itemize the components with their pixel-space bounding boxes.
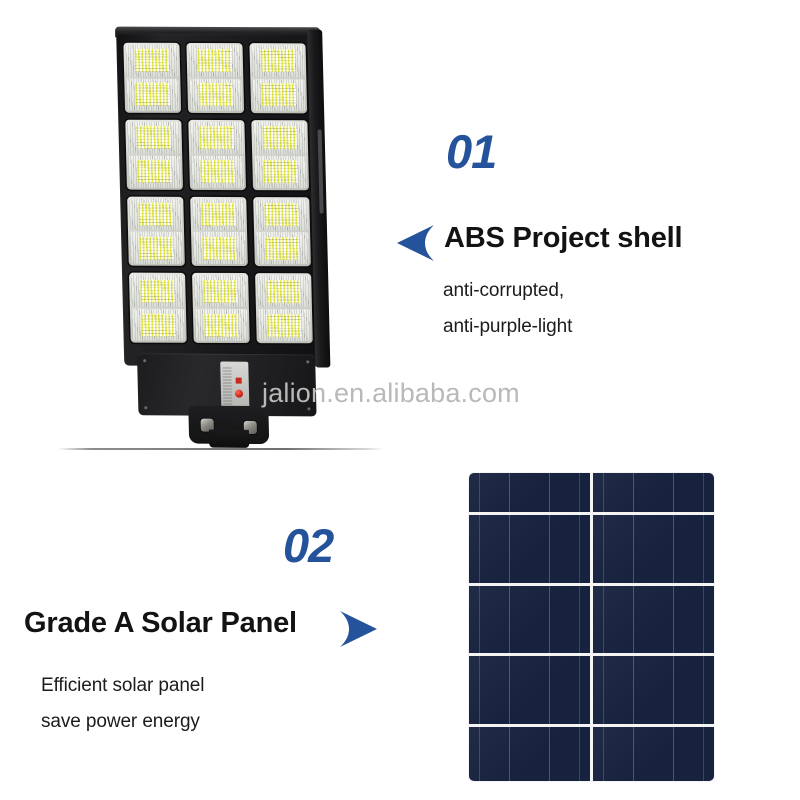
- screw-icon: [143, 359, 146, 362]
- watermark-text: jalion.en.alibaba.com: [262, 378, 520, 409]
- feature-number-02: 02: [283, 522, 333, 569]
- led-array: [253, 122, 306, 154]
- screw-icon: [306, 360, 309, 363]
- led-module: [127, 196, 185, 266]
- led-array: [189, 79, 242, 111]
- solar-cell: [593, 586, 714, 653]
- solar-cell: [469, 515, 590, 582]
- led-module: [188, 120, 246, 190]
- led-array: [131, 275, 184, 307]
- solar-cell: [593, 727, 714, 781]
- led-array: [127, 121, 180, 153]
- led-module: [123, 43, 181, 113]
- triangle-left-icon: [396, 222, 436, 264]
- led-array: [258, 309, 311, 341]
- led-array: [255, 199, 308, 231]
- led-module: [251, 120, 309, 190]
- led-array: [132, 309, 185, 341]
- led-array: [126, 79, 179, 111]
- feature-title-02: Grade A Solar Panel: [24, 607, 297, 640]
- led-module: [186, 43, 244, 113]
- led-array: [191, 156, 244, 188]
- led-array: [192, 198, 245, 230]
- led-module-grid: [123, 43, 312, 344]
- led-module: [255, 273, 313, 343]
- feature-description-02: Efficient solar panel save power energy: [41, 668, 204, 740]
- led-module: [129, 273, 187, 343]
- solar-cell: [469, 656, 590, 723]
- indicator-square-icon: [236, 378, 242, 384]
- solar-cell: [593, 473, 714, 512]
- led-array: [252, 79, 305, 111]
- solar-cell: [469, 586, 590, 653]
- led-array: [128, 155, 181, 187]
- led-array: [251, 45, 304, 77]
- feature-title-01: ABS Project shell: [444, 222, 682, 255]
- feature-description-line: anti-purple-light: [443, 309, 572, 345]
- feature-description-line: Efficient solar panel: [41, 668, 204, 704]
- screw-icon: [144, 406, 147, 409]
- led-module: [253, 197, 311, 267]
- solar-cell: [469, 727, 590, 781]
- solar-cell: [593, 515, 714, 582]
- lamp-spec-label-plate: [220, 362, 249, 412]
- led-array: [125, 45, 178, 77]
- led-array: [254, 156, 307, 188]
- solar-cell: [469, 473, 590, 512]
- led-array: [130, 232, 183, 264]
- led-array: [257, 275, 310, 307]
- led-array: [129, 198, 182, 230]
- lamp-pole-mount: [209, 430, 249, 448]
- led-array: [195, 309, 248, 341]
- led-array: [194, 275, 247, 307]
- solar-panel-image: [468, 472, 715, 782]
- led-module: [192, 273, 250, 343]
- led-module: [125, 119, 183, 189]
- feature-description-01: anti-corrupted, anti-purple-light: [443, 273, 572, 345]
- led-array: [193, 232, 246, 264]
- led-module: [190, 196, 248, 266]
- led-array: [190, 122, 243, 154]
- solar-cell: [593, 656, 714, 723]
- led-module: [249, 43, 307, 113]
- feature-number-01: 01: [446, 128, 496, 175]
- led-array: [256, 232, 309, 264]
- feature-description-line: anti-corrupted,: [443, 273, 572, 309]
- led-array: [188, 45, 241, 77]
- triangle-right-icon: [338, 608, 378, 650]
- feature-description-line: save power energy: [41, 704, 204, 740]
- power-button-icon[interactable]: [235, 390, 243, 398]
- product-infographic-page: 01 ABS Project shell anti-corrupted, ant…: [0, 0, 800, 800]
- section-divider: [58, 448, 383, 450]
